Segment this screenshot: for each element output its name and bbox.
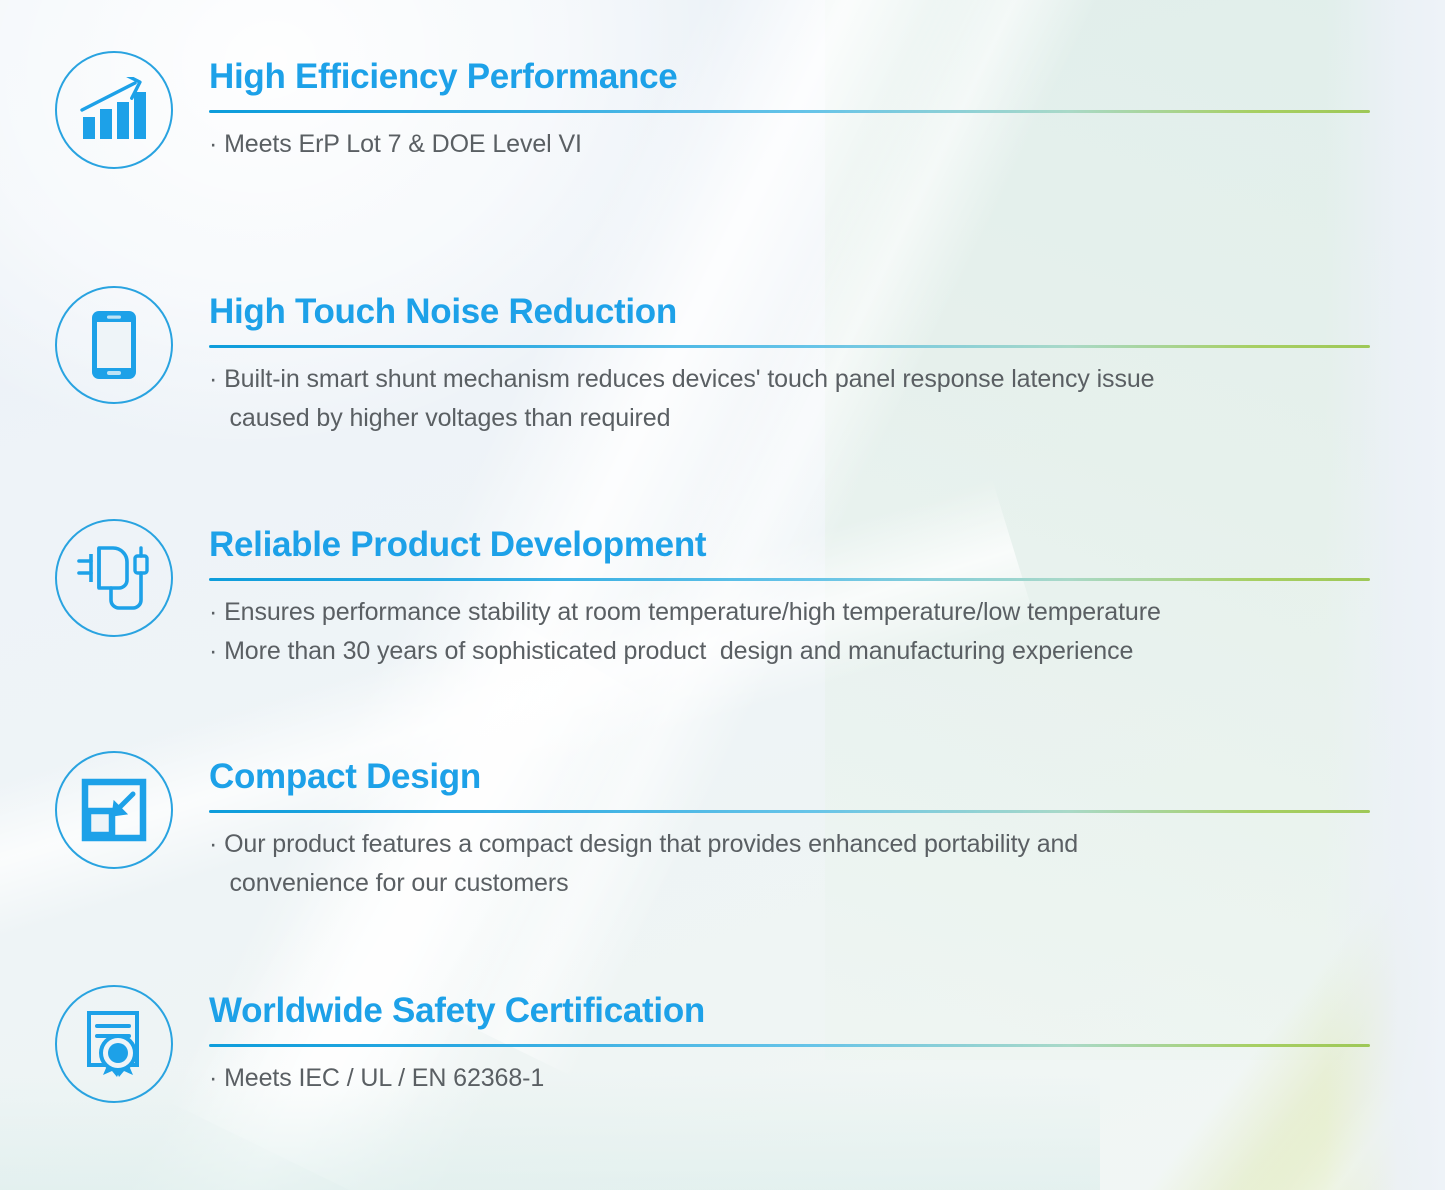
icon-circle-outline [55, 985, 173, 1103]
feature-body: High Touch Noise Reduction · Built-in sm… [209, 283, 1370, 438]
feature-highlights-page: High Efficiency Performance · Meets ErP … [0, 0, 1445, 1190]
feature-icon-container [52, 283, 176, 407]
power-adapter-icon [75, 542, 153, 614]
feature-title: High Efficiency Performance [209, 56, 1370, 98]
feature-item-reliable-product-development: Reliable Product Development · Ensures p… [52, 516, 1370, 671]
icon-circle-outline [55, 751, 173, 869]
feature-divider-rule [209, 1044, 1370, 1047]
feature-divider-rule [209, 345, 1370, 348]
feature-divider-rule [209, 578, 1370, 581]
feature-description: · Meets IEC / UL / EN 62368-1 [209, 1059, 1370, 1098]
certificate-award-icon [79, 1009, 149, 1079]
feature-icon-container [52, 48, 176, 172]
feature-divider-rule [209, 110, 1370, 113]
feature-item-high-touch-noise-reduction: High Touch Noise Reduction · Built-in sm… [52, 283, 1370, 438]
feature-title: Compact Design [209, 756, 1370, 798]
feature-bullet-line: convenience for our customers [209, 864, 1370, 903]
feature-item-compact-design: Compact Design · Our product features a … [52, 748, 1370, 903]
compact-resize-icon [81, 778, 147, 842]
feature-title: Reliable Product Development [209, 524, 1370, 566]
feature-description: · Our product features a compact design … [209, 825, 1370, 903]
feature-icon-container [52, 982, 176, 1106]
feature-description: · Meets ErP Lot 7 & DOE Level VI [209, 125, 1370, 164]
feature-bullet-line: · Meets ErP Lot 7 & DOE Level VI [209, 125, 1370, 164]
feature-bullet-line: · Ensures performance stability at room … [209, 593, 1370, 632]
feature-title: Worldwide Safety Certification [209, 990, 1370, 1032]
icon-circle-outline [55, 286, 173, 404]
icon-circle-outline [55, 519, 173, 637]
feature-bullet-line: · Meets IEC / UL / EN 62368-1 [209, 1059, 1370, 1098]
feature-item-worldwide-safety-certification: Worldwide Safety Certification · Meets I… [52, 982, 1370, 1106]
feature-body: High Efficiency Performance · Meets ErP … [209, 48, 1370, 164]
icon-circle-outline [55, 51, 173, 169]
feature-title: High Touch Noise Reduction [209, 291, 1370, 333]
bar-chart-growth-icon [79, 77, 149, 143]
feature-bullet-line: · Our product features a compact design … [209, 825, 1370, 864]
feature-body: Worldwide Safety Certification · Meets I… [209, 982, 1370, 1098]
smartphone-icon [90, 309, 138, 381]
feature-item-high-efficiency-performance: High Efficiency Performance · Meets ErP … [52, 48, 1370, 172]
feature-bullet-line: · Built-in smart shunt mechanism reduces… [209, 360, 1370, 399]
feature-icon-container [52, 516, 176, 640]
feature-bullet-line: · More than 30 years of sophisticated pr… [209, 632, 1370, 671]
feature-divider-rule [209, 810, 1370, 813]
feature-description: · Built-in smart shunt mechanism reduces… [209, 360, 1370, 438]
feature-body: Reliable Product Development · Ensures p… [209, 516, 1370, 671]
feature-icon-container [52, 748, 176, 872]
feature-description: · Ensures performance stability at room … [209, 593, 1370, 671]
feature-body: Compact Design · Our product features a … [209, 748, 1370, 903]
feature-bullet-line: caused by higher voltages than required [209, 399, 1370, 438]
